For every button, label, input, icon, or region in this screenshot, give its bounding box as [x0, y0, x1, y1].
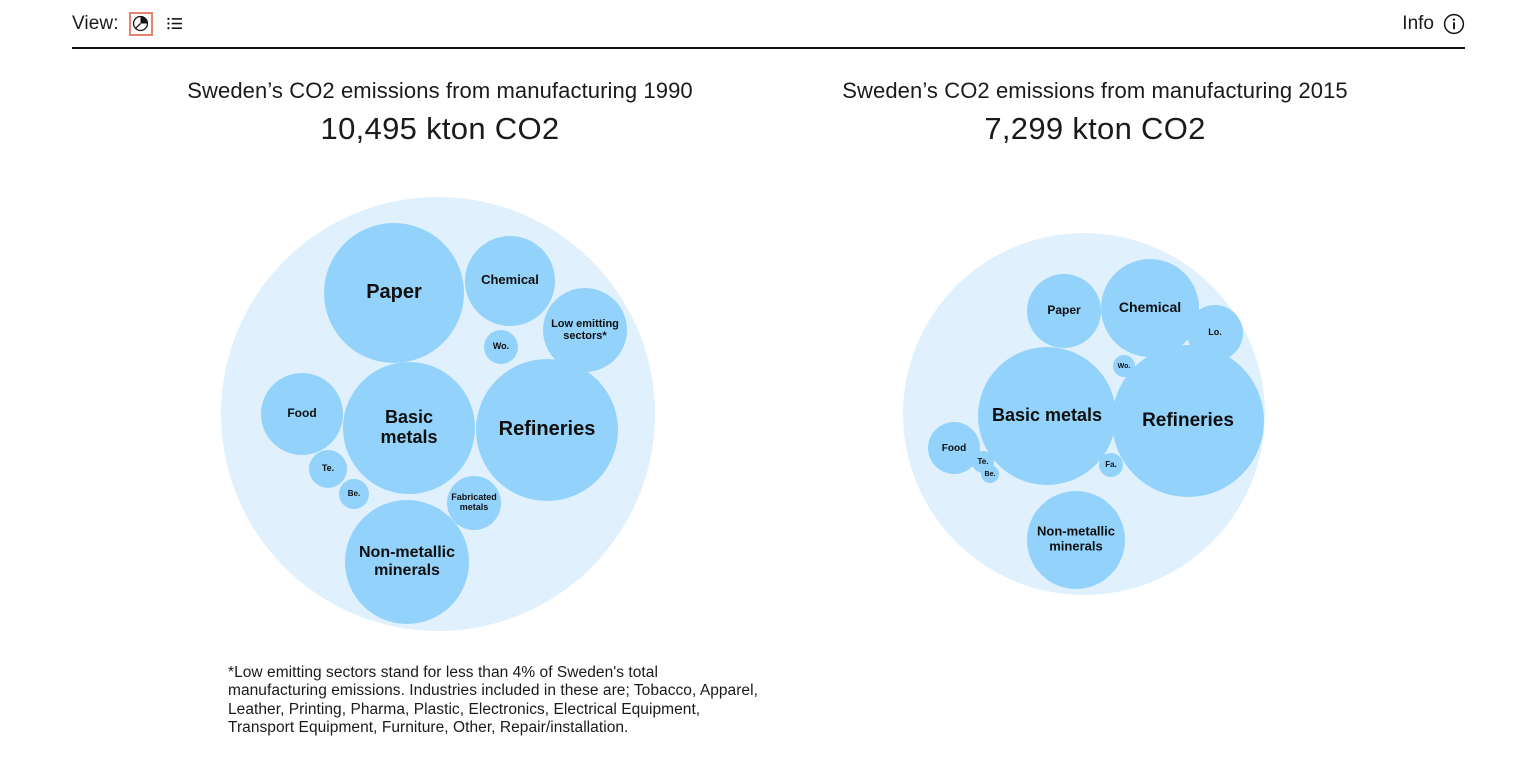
bubble-node[interactable]: Chemical	[1101, 259, 1199, 357]
bubble-circle[interactable]	[1099, 453, 1123, 477]
bubble-node[interactable]: Refineries	[1112, 345, 1264, 497]
bubble-node[interactable]: Paper	[324, 223, 464, 363]
bubble-node[interactable]: Food	[928, 422, 980, 474]
bubble-circle[interactable]	[1027, 274, 1101, 348]
bubble-node[interactable]: Fa.	[1099, 453, 1123, 477]
bubble-node[interactable]: Wo.	[484, 330, 518, 364]
bubble-circle[interactable]	[484, 330, 518, 364]
bubble-node[interactable]: Refineries	[476, 359, 618, 501]
bubble-circle[interactable]	[928, 422, 980, 474]
bubble-circle[interactable]	[345, 500, 469, 624]
bubble-node[interactable]: Be.	[981, 465, 999, 483]
bubble-circle[interactable]	[978, 347, 1116, 485]
bubble-node[interactable]: Non-metallicminerals	[1027, 491, 1125, 589]
bubble-pack-2015: PaperChemicalLo.Wo.Basic metalsRefinerie…	[903, 233, 1265, 595]
bubble-circle[interactable]	[309, 450, 347, 488]
bubble-node[interactable]: Non-metallicminerals	[345, 500, 469, 624]
bubble-circle[interactable]	[343, 362, 475, 494]
bubble-circle[interactable]	[476, 359, 618, 501]
bubble-node[interactable]: Be.	[339, 479, 369, 509]
bubble-node[interactable]: Basicmetals	[343, 362, 475, 494]
bubble-node[interactable]: Food	[261, 373, 343, 455]
bubble-circle[interactable]	[543, 288, 627, 372]
bubble-circle[interactable]	[324, 223, 464, 363]
bubble-node[interactable]: Chemical	[465, 236, 555, 326]
bubble-circle[interactable]	[981, 465, 999, 483]
bubble-circle[interactable]	[1027, 491, 1125, 589]
bubble-pack-1990: PaperChemicalLow emittingsectors*Wo.Basi…	[221, 197, 655, 631]
bubble-charts-canvas: PaperChemicalLow emittingsectors*Wo.Basi…	[0, 0, 1536, 764]
bubble-node[interactable]: Basic metals	[978, 347, 1116, 485]
bubble-circle[interactable]	[1101, 259, 1199, 357]
bubble-node[interactable]: Fabricatedmetals	[447, 476, 501, 530]
footnote-text: *Low emitting sectors stand for less tha…	[228, 664, 758, 738]
bubble-node[interactable]: Paper	[1027, 274, 1101, 348]
bubble-circle[interactable]	[1112, 345, 1264, 497]
bubble-node[interactable]: Te.	[309, 450, 347, 488]
bubble-circle[interactable]	[465, 236, 555, 326]
bubble-circle[interactable]	[447, 476, 501, 530]
bubble-node[interactable]: Low emittingsectors*	[543, 288, 627, 372]
bubble-circle[interactable]	[339, 479, 369, 509]
bubble-circle[interactable]	[261, 373, 343, 455]
